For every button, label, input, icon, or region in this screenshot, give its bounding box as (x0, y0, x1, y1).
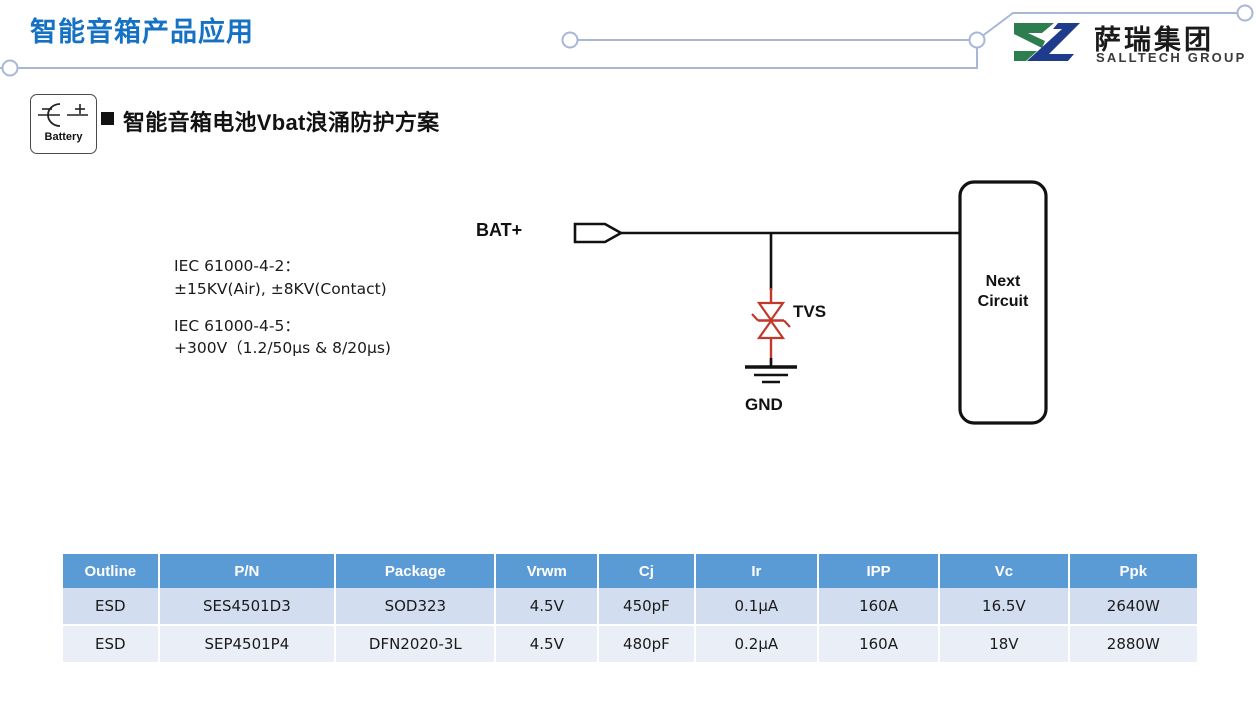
ground-symbol-icon (745, 367, 797, 382)
col-header-vrwm[interactable]: Vrwm (496, 554, 599, 588)
cell-cj: 480pF (599, 626, 696, 662)
cell-vrwm: 4.5V (496, 626, 599, 662)
company-logo: 萨瑞集团 SALLTECH GROUP (1012, 18, 1244, 74)
bat-plus-label: BAT+ (476, 220, 522, 241)
section-bullet-marker (101, 112, 114, 125)
col-header-cj[interactable]: Cj (599, 554, 696, 588)
spec-line-1: IEC 61000-4-2： (174, 255, 391, 278)
cell-ppk: 2640W (1070, 588, 1197, 626)
spec-line-3: IEC 61000-4-5： (174, 315, 391, 338)
next-circuit-line-2: Circuit (962, 292, 1044, 312)
col-header-pn[interactable]: P/N (160, 554, 337, 588)
bat-connector-icon (575, 224, 621, 242)
cell-vc: 18V (940, 626, 1069, 662)
decor-node-middle (563, 33, 578, 48)
next-circuit-line-1: Next (962, 272, 1044, 292)
col-header-vc[interactable]: Vc (940, 554, 1069, 588)
battery-symbol-icon (36, 100, 91, 130)
cell-package: DFN2020-3L (336, 626, 496, 662)
cell-ir: 0.1μA (696, 588, 819, 626)
decor-node-left (3, 61, 18, 76)
col-header-ipp[interactable]: IPP (819, 554, 940, 588)
cell-package: SOD323 (336, 588, 496, 626)
cell-cj: 450pF (599, 588, 696, 626)
tvs-label: TVS (793, 302, 826, 322)
decor-node-right (970, 33, 985, 48)
cell-pn: SES4501D3 (160, 588, 337, 626)
salltech-logo-mark-icon (1012, 20, 1084, 64)
cell-outline: ESD (63, 626, 160, 662)
cell-vrwm: 4.5V (496, 588, 599, 626)
battery-icon-label: Battery (31, 131, 96, 143)
cell-ipp: 160A (819, 588, 940, 626)
product-spec-table: Outline P/N Package Vrwm Cj Ir IPP Vc Pp… (63, 554, 1197, 662)
cell-vc: 16.5V (940, 588, 1069, 626)
cell-pn: SEP4501P4 (160, 626, 337, 662)
spec-line-2: ±15KV(Air), ±8KV(Contact) (174, 278, 391, 301)
spec-line-4: +300V（1.2/50μs & 8/20μs) (174, 337, 391, 360)
col-header-ir[interactable]: Ir (696, 554, 819, 588)
battery-icon: Battery (30, 94, 97, 154)
col-header-package[interactable]: Package (336, 554, 496, 588)
cell-ir: 0.2μA (696, 626, 819, 662)
table-header-row: Outline P/N Package Vrwm Cj Ir IPP Vc Pp… (63, 554, 1197, 588)
table-row[interactable]: ESD SEP4501P4 DFN2020-3L 4.5V 480pF 0.2μ… (63, 626, 1197, 662)
gnd-label: GND (745, 395, 783, 415)
cell-outline: ESD (63, 588, 160, 626)
logo-english-name: SALLTECH GROUP (1096, 50, 1246, 65)
iec-spec-text: IEC 61000-4-2： ±15KV(Air), ±8KV(Contact)… (174, 255, 391, 360)
table-row[interactable]: ESD SES4501D3 SOD323 4.5V 450pF 0.1μA 16… (63, 588, 1197, 626)
cell-ppk: 2880W (1070, 626, 1197, 662)
cell-ipp: 160A (819, 626, 940, 662)
section-title: 智能音箱电池Vbat浪涌防护方案 (123, 105, 439, 137)
col-header-outline[interactable]: Outline (63, 554, 160, 588)
page-header: 智能音箱产品应用 萨瑞集团 SALLTECH GROUP (0, 0, 1257, 92)
col-header-ppk[interactable]: Ppk (1070, 554, 1197, 588)
next-circuit-label: Next Circuit (962, 272, 1044, 313)
tvs-diode-icon (752, 303, 790, 338)
